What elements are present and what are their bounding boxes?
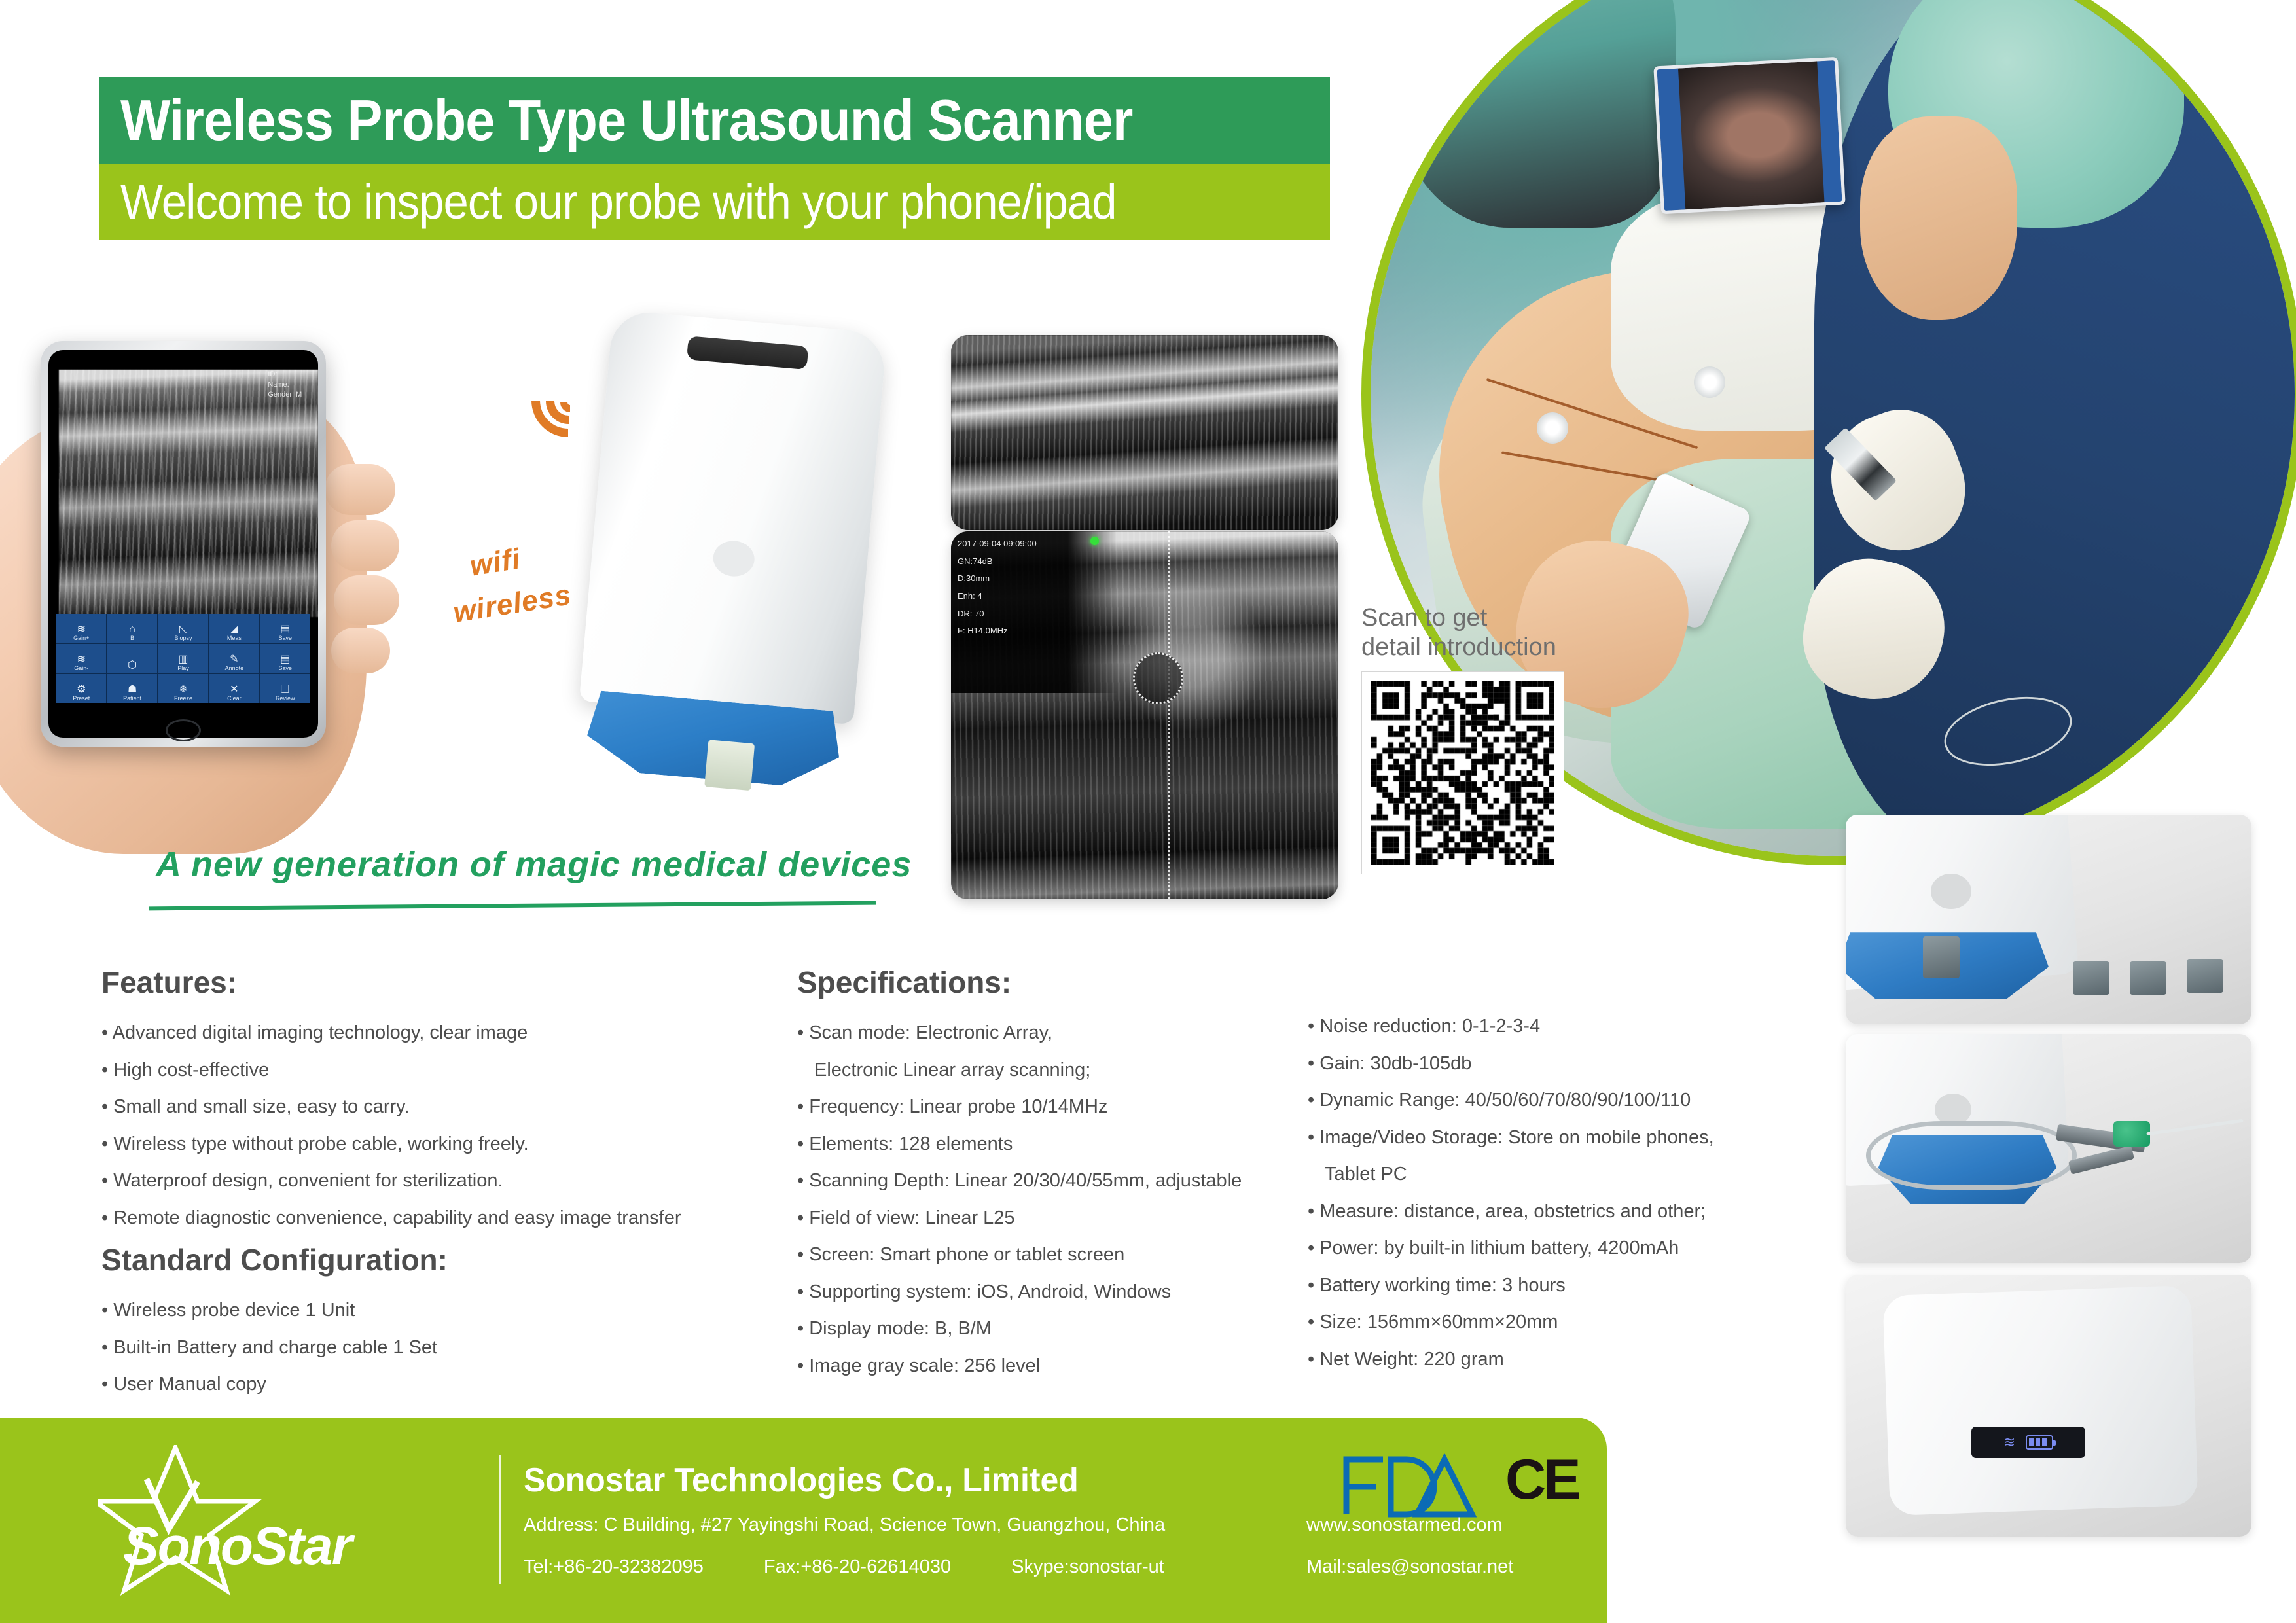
keypad-label: Clear — [227, 696, 242, 702]
keypad-label: Gain- — [74, 666, 88, 671]
brochure-page: Wireless Probe Type Ultrasound Scanner W… — [0, 0, 2296, 1623]
keypad-b-mode-icon[interactable]: ⌂B — [107, 614, 157, 643]
scan-parameters-overlay: 2017-09-04 09:09:00 GN:74dB D:30mm Enh: … — [951, 531, 1118, 693]
header-banner: Wireless Probe Type Ultrasound Scanner W… — [99, 77, 1330, 240]
company-tel: Tel:+86-20-32382095 — [524, 1556, 704, 1578]
specification-item: • Screen: Smart phone or tablet screen — [797, 1236, 1321, 1274]
keypad-save-video-icon[interactable]: ▤Save — [260, 644, 310, 673]
specification-item: • Elements: 128 elements — [797, 1126, 1321, 1163]
battery-status-icon — [2026, 1435, 2053, 1450]
page-subtitle: Welcome to inspect our probe with your p… — [120, 174, 1117, 230]
keypad-label: B — [130, 635, 134, 641]
qr-code-image — [1371, 681, 1554, 865]
features-title: Features: — [101, 965, 795, 1000]
company-name: Sonostar Technologies Co., Limited — [524, 1461, 1079, 1500]
footer-bar: SonoStar Sonostar Technologies Co., Limi… — [0, 1418, 1607, 1623]
keypad-measure-icon[interactable]: ◢Meas — [209, 614, 259, 643]
company-contacts: Tel:+86-20-32382095 Fax:+86-20-62614030 … — [524, 1556, 1164, 1578]
wifi-status-icon: ≋ — [2003, 1434, 2015, 1451]
home-button-icon[interactable] — [166, 719, 201, 741]
biopsy-icon: ◺ — [179, 624, 187, 635]
features-section: Features: • Advanced digital imaging tec… — [101, 965, 795, 1236]
wifi-signal-icon — [531, 364, 610, 442]
phone-in-hand-photo: ID: Name: Gender: M ≋Gain+⌂B◺Biopsy◢Meas… — [0, 324, 393, 847]
gain-up-icon: ≋ — [77, 624, 86, 635]
keypad-gain-down-icon[interactable]: ≋Gain- — [56, 644, 106, 673]
qr-code[interactable] — [1361, 671, 1564, 874]
feature-item: • Wireless type without probe cable, wor… — [101, 1126, 795, 1163]
ce-mark-icon: CE — [1505, 1448, 1578, 1512]
keypad-gain-up-icon[interactable]: ≋Gain+ — [56, 614, 106, 643]
keypad-save-image-icon[interactable]: ▤Save — [260, 614, 310, 643]
keypad-label: Save — [278, 666, 292, 671]
keypad-biopsy-icon[interactable]: ◺Biopsy — [158, 614, 208, 643]
feature-item: • Advanced digital imaging technology, c… — [101, 1014, 795, 1052]
qr-caption-line1: Scan to get — [1361, 603, 1556, 633]
company-address: Address: C Building, #27 Yayingshi Road,… — [524, 1514, 1165, 1536]
save-image-icon: ▤ — [280, 624, 290, 635]
banner-subtitle-bar: Welcome to inspect our probe with your p… — [99, 164, 1330, 240]
specifications-section: Specifications: • Scan mode: Electronic … — [797, 965, 1321, 1384]
banner-title-bar: Wireless Probe Type Ultrasound Scanner — [99, 77, 1330, 164]
specification-item: • Supporting system: iOS, Android, Windo… — [797, 1274, 1321, 1311]
specification-item: • Noise reduction: 0-1-2-3-4 — [1308, 1008, 1805, 1045]
specification-item: • Image/Video Storage: Store on mobile p… — [1308, 1119, 1805, 1156]
specification-item: • Dynamic Range: 40/50/60/70/80/90/100/1… — [1308, 1082, 1805, 1119]
keypad-label: Save — [278, 635, 292, 641]
annotate-icon: ✎ — [230, 654, 238, 665]
keypad-clear-icon[interactable]: ✕Clear — [209, 674, 259, 703]
keypad-annotate-icon[interactable]: ✎Annote — [209, 644, 259, 673]
bm-mode-icon: ⬡ — [128, 660, 137, 671]
caliper-line — [1168, 531, 1170, 899]
play-icon: ▥ — [178, 654, 188, 665]
keypad-label: Annote — [225, 666, 244, 671]
freeze-icon: ❄ — [179, 685, 187, 695]
ultrasound-scan-image-measured: 2017-09-04 09:09:00 GN:74dB D:30mm Enh: … — [951, 531, 1338, 899]
ultrasound-live-image — [59, 370, 318, 618]
measure-icon: ◢ — [230, 624, 238, 635]
product-photo-needle-guide-bracket — [1846, 1034, 2251, 1263]
specifications-title: Specifications: — [797, 965, 1321, 1000]
standard-configuration-section: Standard Configuration: • Wireless probe… — [101, 1242, 795, 1403]
specification-item: • Scanning Depth: Linear 20/30/40/55mm, … — [797, 1162, 1321, 1200]
specification-item: • Field of view: Linear L25 — [797, 1200, 1321, 1237]
specification-item: • Size: 156mm×60mm×20mm — [1308, 1304, 1805, 1341]
patient-info-overlay: ID: Name: Gender: M — [268, 370, 302, 401]
configuration-item: • Built-in Battery and charge cable 1 Se… — [101, 1329, 795, 1366]
keypad-review-icon[interactable]: ❏Review — [260, 674, 310, 703]
specifications-list-column-1: • Scan mode: Electronic Array,Electronic… — [797, 1014, 1321, 1384]
keypad-play-icon[interactable]: ▥Play — [158, 644, 208, 673]
scan-frequency: F: H14.0MHz — [958, 622, 1118, 640]
scan-depth: D:30mm — [958, 570, 1118, 588]
specification-item: • Image gray scale: 256 level — [797, 1347, 1321, 1385]
specifications-list-column-2: • Noise reduction: 0-1-2-3-4• Gain: 30db… — [1308, 1008, 1805, 1378]
save-video-icon: ▤ — [280, 654, 290, 665]
specification-item: • Battery working time: 3 hours — [1308, 1267, 1805, 1304]
fda-logo-icon — [1340, 1452, 1481, 1520]
specification-item: • Display mode: B, B/M — [797, 1310, 1321, 1347]
review-icon: ❏ — [281, 685, 290, 695]
product-photo-needle-clips — [1846, 815, 2251, 1024]
scan-gain: GN:74dB — [958, 553, 1118, 571]
keypad-patient-icon[interactable]: ☗Patient — [107, 674, 157, 703]
scan-dynamic-range: DR: 70 — [958, 605, 1118, 623]
specification-item: • Measure: distance, area, obstetrics an… — [1308, 1193, 1805, 1230]
features-list: • Advanced digital imaging technology, c… — [101, 1014, 795, 1236]
feature-item: • Remote diagnostic convenience, capabil… — [101, 1200, 795, 1237]
probe-needle-clip — [704, 740, 755, 791]
specification-item: Tablet PC — [1308, 1156, 1805, 1193]
feature-item: • High cost-effective — [101, 1052, 795, 1089]
standard-configuration-list: • Wireless probe device 1 Unit• Built-in… — [101, 1292, 795, 1403]
keypad-label: Preset — [73, 696, 90, 702]
smartphone-device: ID: Name: Gender: M ≋Gain+⌂B◺Biopsy◢Meas… — [41, 341, 326, 747]
configuration-item: • User Manual copy — [101, 1366, 795, 1403]
specification-item: • Frequency: Linear probe 10/14MHz — [797, 1088, 1321, 1126]
probe-status-display: ≋ — [1971, 1427, 2085, 1458]
tagline: A new generation of magic medical device… — [156, 844, 912, 885]
measurement-ellipse — [1133, 652, 1183, 704]
qr-caption: Scan to get detail introduction — [1361, 603, 1556, 662]
probe-button-dot — [711, 539, 755, 578]
specification-item: Electronic Linear array scanning; — [797, 1052, 1321, 1089]
patient-id: ID: — [268, 370, 302, 380]
specification-item: • Power: by built-in lithium battery, 42… — [1308, 1230, 1805, 1267]
wifi-label: wifi — [468, 543, 523, 582]
ultrasound-scan-image-linear — [951, 335, 1338, 530]
scan-enhance: Enh: 4 — [958, 588, 1118, 605]
gain-down-icon: ≋ — [77, 654, 86, 665]
keypad-label: Play — [177, 666, 189, 671]
keypad-label: Patient — [123, 696, 141, 702]
tagline-underline — [149, 901, 876, 911]
b-mode-icon: ⌂ — [129, 624, 135, 635]
feature-item: • Waterproof design, convenient for ster… — [101, 1162, 795, 1200]
standard-configuration-title: Standard Configuration: — [101, 1242, 795, 1277]
specification-item: • Gain: 30db-105db — [1308, 1045, 1805, 1082]
specification-item: • Scan mode: Electronic Array, — [797, 1014, 1321, 1052]
qr-caption-line2: detail introduction — [1361, 633, 1556, 662]
specification-item: • Net Weight: 220 gram — [1308, 1341, 1805, 1378]
keypad-gear-icon[interactable]: ⚙Preset — [56, 674, 106, 703]
footer-divider — [499, 1455, 501, 1584]
keypad-label: Biopsy — [174, 635, 192, 641]
patient-name: Name: — [268, 380, 302, 391]
patient-gender: Gender: M — [268, 390, 302, 401]
page-title: Wireless Probe Type Ultrasound Scanner — [120, 87, 1132, 154]
keypad-label: Meas — [227, 635, 242, 641]
product-photo-oled-display: ≋ — [1846, 1275, 2251, 1537]
wireless-probe-photo — [572, 310, 887, 803]
company-skype: Skype:sonostar-ut — [1011, 1556, 1164, 1578]
sonostar-wordmark: SonoStar — [123, 1516, 351, 1577]
keypad-freeze-icon[interactable]: ❄Freeze — [158, 674, 208, 703]
keypad-bm-mode-icon[interactable]: ⬡ — [107, 644, 157, 673]
company-email[interactable]: Mail:sales@sonostar.net — [1306, 1556, 1513, 1578]
company-fax: Fax:+86-20-62614030 — [764, 1556, 951, 1578]
keypad-label: Freeze — [174, 696, 192, 702]
ultrasound-control-keypad[interactable]: ≋Gain+⌂B◺Biopsy◢Meas▤Save≋Gain-⬡▥Play✎An… — [56, 614, 310, 703]
gear-icon: ⚙ — [77, 685, 86, 695]
keypad-label: Gain+ — [73, 635, 89, 641]
specifications-column-2: • Noise reduction: 0-1-2-3-4• Gain: 30db… — [1308, 1008, 1805, 1378]
keypad-label: Review — [276, 696, 295, 702]
phone-screen: ID: Name: Gender: M ≋Gain+⌂B◺Biopsy◢Meas… — [48, 350, 318, 738]
probe-oled-slot — [687, 336, 809, 370]
clear-icon: ✕ — [230, 685, 238, 695]
wireless-label: wireless — [451, 579, 573, 630]
feature-item: • Small and small size, easy to carry. — [101, 1088, 795, 1126]
configuration-item: • Wireless probe device 1 Unit — [101, 1292, 795, 1329]
patient-icon: ☗ — [128, 685, 137, 695]
